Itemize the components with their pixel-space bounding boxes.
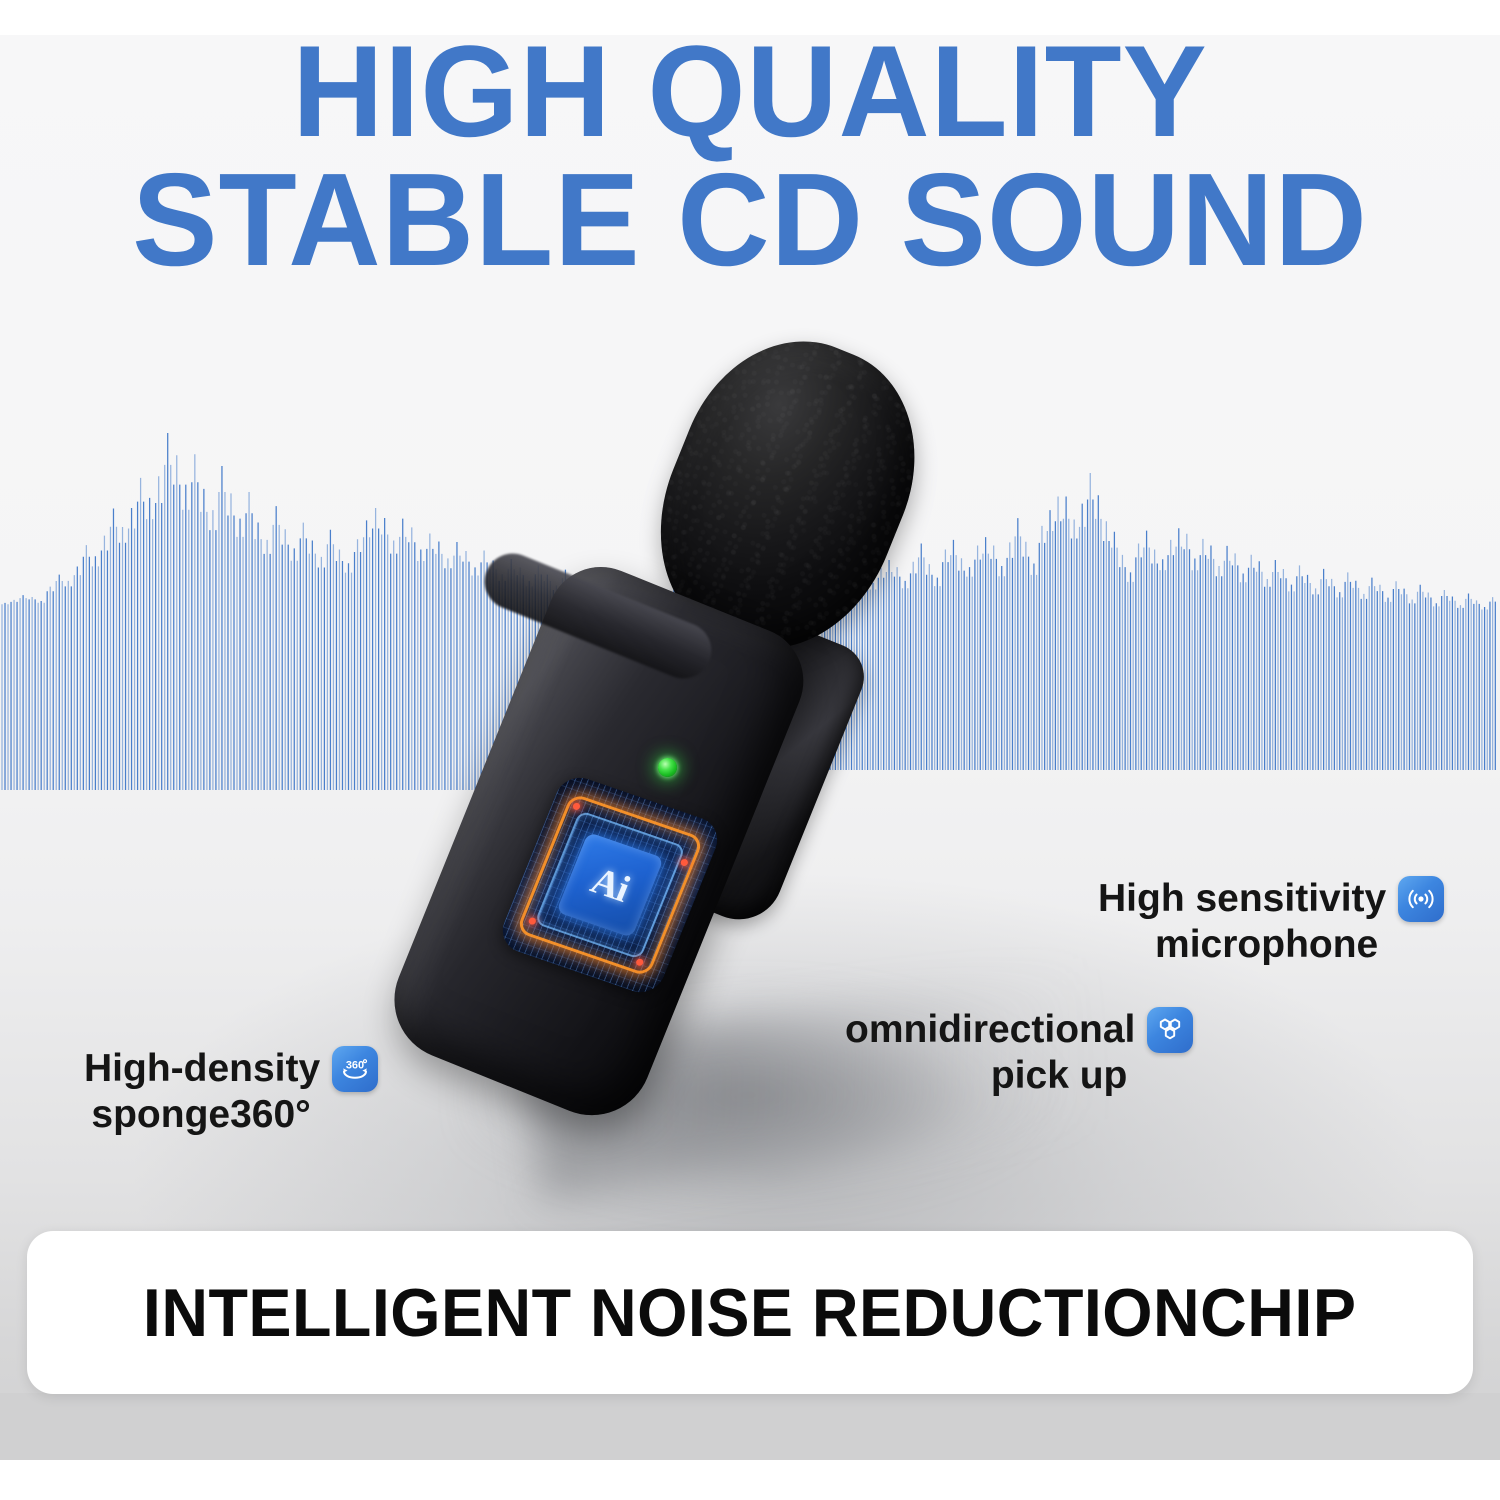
feature-label-line-1: High-density bbox=[84, 1046, 320, 1091]
feature-label-line-2: pick up bbox=[845, 1053, 1193, 1098]
honeycomb-hexagons-icon bbox=[1147, 1007, 1193, 1053]
feature-high-density-sponge-360: High-density 360 sponge360° bbox=[84, 1046, 378, 1137]
product-marketing-image: HIGH QUALITY STABLE CD SOUND Ai bbox=[0, 0, 1500, 1500]
feature-label-line-1: High sensitivity bbox=[1098, 876, 1386, 921]
page-title: HIGH QUALITY STABLE CD SOUND bbox=[23, 28, 1478, 285]
feature-label-line-2: microphone bbox=[1098, 922, 1444, 967]
status-led-indicator bbox=[658, 758, 677, 777]
signal-waves-icon bbox=[1398, 876, 1444, 922]
background-bottom-strip bbox=[0, 1393, 1500, 1460]
feature-label-line-1: omnidirectional bbox=[845, 1007, 1135, 1052]
feature-label-line-2: sponge360° bbox=[84, 1092, 378, 1137]
360-rotation-icon: 360 bbox=[332, 1046, 378, 1092]
bottom-banner: INTELLIGENT NOISE REDUCTIONCHIP bbox=[27, 1231, 1473, 1394]
svg-text:360: 360 bbox=[346, 1060, 364, 1072]
headline-line-1: HIGH QUALITY bbox=[292, 18, 1207, 164]
headline-line-2: STABLE CD SOUND bbox=[23, 155, 1478, 284]
feature-high-sensitivity-microphone: High sensitivity microphone bbox=[1098, 876, 1444, 967]
banner-text: INTELLIGENT NOISE REDUCTIONCHIP bbox=[143, 1274, 1356, 1352]
chip-ai-label: Ai bbox=[586, 862, 634, 909]
feature-omnidirectional-pick-up: omnidirectional pick up bbox=[845, 1007, 1193, 1098]
